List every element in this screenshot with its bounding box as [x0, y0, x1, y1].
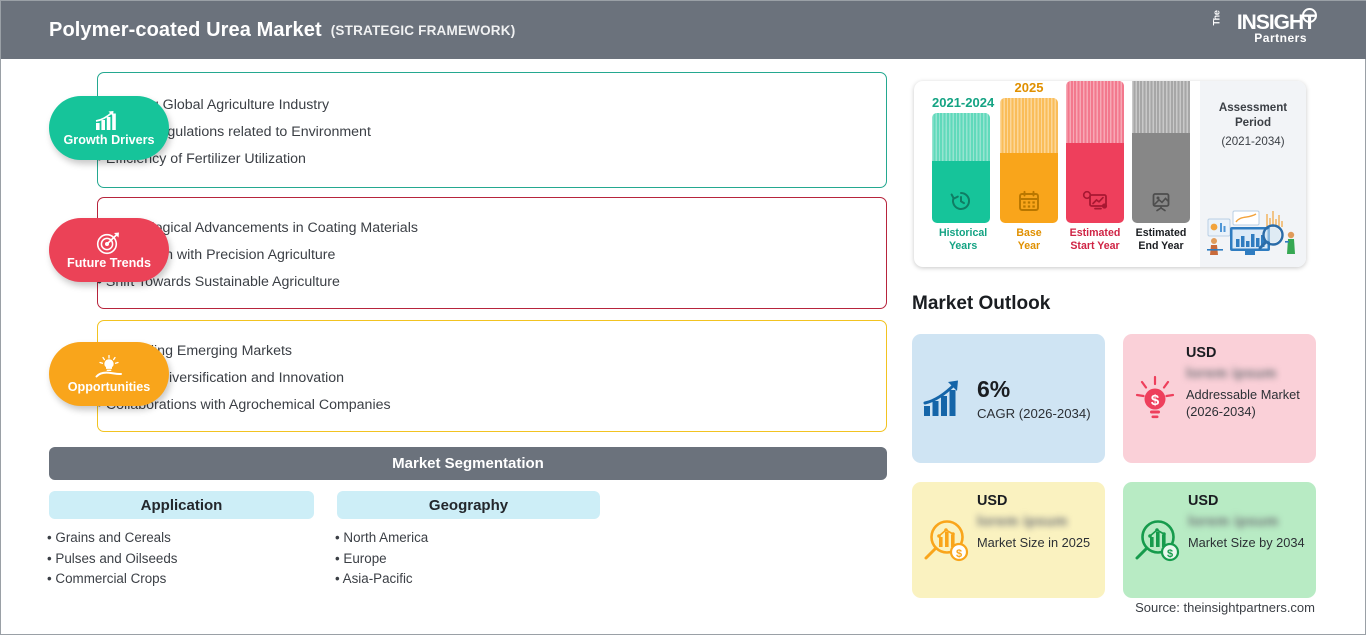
chart-image-icon [1148, 189, 1174, 213]
market-outlook-title: Market Outlook [912, 293, 1050, 315]
lightbulb-dollar-icon: $ [1131, 345, 1179, 453]
pill-future-trends: Future Trends [49, 218, 169, 282]
list-item: • Asia-Pacific [335, 569, 428, 590]
svg-text:$: $ [1167, 548, 1173, 560]
list-item: • Europe [335, 549, 428, 570]
magnifier-chart-dollar-icon: $ [1131, 493, 1181, 588]
svg-text:$: $ [956, 548, 962, 560]
bar-label-line1: Estimated [1066, 227, 1124, 240]
target-arrow-icon [95, 231, 123, 256]
pill-opportunities: Opportunities [49, 342, 169, 406]
page-subtitle: (STRATEGIC FRAMEWORK) [331, 23, 516, 38]
bar-historical [932, 113, 990, 223]
bar-estimated-start [1066, 81, 1124, 223]
magnifier-chart-dollar-icon: $ [920, 493, 970, 588]
bar-label-line2: End Year [1132, 240, 1190, 253]
redacted-value: lorem ipsum [1188, 514, 1306, 530]
page-header: Polymer-coated Urea Market (STRATEGIC FR… [1, 1, 1366, 59]
card-caption: Market Size in 2025 [977, 534, 1095, 551]
list-item: • Commercial Crops [47, 569, 178, 590]
outlook-card-market-size-2025: $ USD lorem ipsum Market Size in 2025 [912, 482, 1105, 598]
bar-chart-arrow-icon [94, 110, 124, 133]
calendar-icon [1017, 189, 1041, 213]
card-caption: Market Size by 2034 [1188, 534, 1306, 551]
currency-label: USD [1188, 493, 1306, 509]
card-caption: Addressable Market (2026-2034) [1186, 386, 1306, 420]
assessment-bar-estimated-start: 2026 Estimated Start Year [1066, 81, 1124, 253]
page-title: Polymer-coated Urea Market [49, 19, 322, 42]
list-item: • Grains and Cereals [47, 528, 178, 549]
bar-stripes [1132, 81, 1190, 133]
svg-text:$: $ [1151, 392, 1160, 409]
redacted-value: lorem ipsum [1186, 366, 1306, 382]
logo-the-text: The [1211, 10, 1221, 25]
bar-label-line2: Years [932, 240, 994, 253]
assessment-bar-base: 2025 Base Year [1000, 81, 1058, 253]
assessment-bar-estimated-end: 2034 Estimated End Year [1132, 81, 1190, 253]
bar-estimated-end [1132, 81, 1190, 223]
person-left [1207, 238, 1223, 255]
list-item: • Pulses and Oilseeds [47, 549, 178, 570]
currency-label: USD [977, 493, 1095, 509]
outlook-card-market-size-2034: $ USD lorem ipsum Market Size by 2034 [1123, 482, 1316, 598]
currency-label: USD [1186, 345, 1306, 361]
assessment-years: (2021-2034) [1200, 135, 1306, 148]
segmentation-column-header-geography: Geography [337, 491, 600, 519]
person-right [1285, 232, 1295, 254]
bar-year-label: 2025 [1000, 81, 1058, 95]
bar-stripes [1066, 81, 1124, 143]
bar-label-line2: Start Year [1066, 240, 1124, 253]
outlook-card-addressable-market: $ USD lorem ipsum Addressable Market (20… [1123, 334, 1316, 463]
clock-history-icon [949, 189, 973, 213]
assessment-title-line1: Assessment [1200, 100, 1306, 115]
pill-label: Growth Drivers [64, 133, 155, 147]
assessment-bar-historical: 2021-2024 Historical Years [932, 95, 994, 253]
segmentation-column-header-application: Application [49, 491, 314, 519]
market-segmentation-heading: Market Segmentation [49, 447, 887, 480]
list-item: • North America [335, 528, 428, 549]
assessment-period-card: 2021-2024 Historical Years 2025 [914, 81, 1306, 267]
source-text: Source: theinsightpartners.com [1135, 600, 1315, 615]
segmentation-list-application: • Grains and Cereals • Pulses and Oilsee… [47, 528, 178, 590]
forecast-screen-icon [1082, 189, 1108, 213]
infographic-page: Polymer-coated Urea Market (STRATEGIC FR… [0, 0, 1366, 635]
pill-growth-drivers: Growth Drivers [49, 96, 169, 160]
bar-label-line1: Estimated [1132, 227, 1190, 240]
bar-year-label: 2021-2024 [932, 95, 994, 110]
assessment-title-line2: Period [1200, 115, 1306, 130]
redacted-value: lorem ipsum [977, 514, 1095, 530]
insight-partners-logo: The INSIGHT Partners [1195, 11, 1315, 51]
pill-label: Future Trends [67, 256, 151, 270]
analytics-dashboard-illustration [1203, 197, 1303, 259]
bar-stripes [932, 113, 990, 161]
bar-label-line1: Historical [932, 227, 994, 240]
logo-ring-icon [1302, 8, 1317, 23]
assessment-period-panel: Assessment Period (2021-2034) [1200, 81, 1306, 267]
bar-chart-growth-icon [922, 379, 968, 419]
outlook-card-cagr: 6% CAGR (2026-2034) [912, 334, 1105, 463]
cagr-caption: CAGR (2026-2034) [977, 406, 1091, 421]
cagr-value: 6% [977, 377, 1091, 401]
bar-label-line1: Base [1000, 227, 1058, 240]
bar-stripes [1000, 98, 1058, 153]
bar-base [1000, 98, 1058, 223]
lightbulb-hand-icon [93, 355, 125, 380]
bar-label-line2: Year [1000, 240, 1058, 253]
segmentation-list-geography: • North America • Europe • Asia-Pacific [335, 528, 428, 590]
pill-label: Opportunities [68, 380, 151, 394]
